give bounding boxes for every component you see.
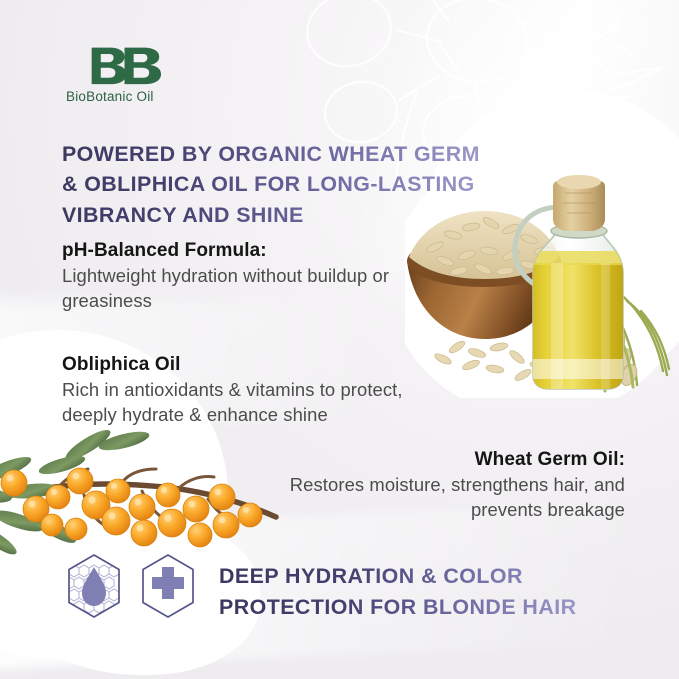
promo-graphic-canvas: BioBotanic Oil POWERED BY ORGANIC WHEAT …	[0, 0, 679, 679]
hydration-droplet-hexagon-icon	[64, 553, 124, 619]
brand-name: BioBotanic Oil	[66, 89, 216, 104]
feature-wheat-germ-oil: Wheat Germ Oil: Restores moisture, stren…	[225, 447, 625, 522]
feature-obliphica-oil: Obliphica Oil Rich in antioxidants & vit…	[62, 352, 462, 427]
brand-logo: BioBotanic Oil	[66, 44, 216, 104]
feature-obliphica-body: Rich in antioxidants & vitamins to prote…	[62, 378, 462, 427]
footline-line-1: DEEP HYDRATION & COLOR	[219, 561, 649, 592]
page-footline: DEEP HYDRATION & COLOR PROTECTION FOR BL…	[219, 561, 649, 623]
headline-line-3: VIBRANCY AND SHINE	[62, 200, 540, 230]
benefit-badges	[64, 553, 198, 619]
protection-plus-hexagon-icon	[138, 553, 198, 619]
feature-ph-balanced: pH-Balanced Formula: Lightweight hydrati…	[62, 238, 434, 313]
footline-line-2: PROTECTION FOR BLONDE HAIR	[219, 592, 649, 623]
feature-ph-body: Lightweight hydration without buildup or…	[62, 264, 434, 313]
headline-line-2: & OBLIPHICA OIL FOR LONG-LASTING	[62, 169, 540, 199]
headline-line-1: POWERED BY ORGANIC WHEAT GERM	[62, 139, 540, 169]
feature-obliphica-title: Obliphica Oil	[62, 352, 462, 377]
bb-monogram-icon	[88, 44, 172, 86]
feature-wheat-title: Wheat Germ Oil:	[225, 447, 625, 472]
page-headline: POWERED BY ORGANIC WHEAT GERM & OBLIPHIC…	[62, 139, 540, 230]
feature-ph-title: pH-Balanced Formula:	[62, 238, 434, 263]
feature-wheat-body: Restores moisture, strengthens hair, and…	[225, 473, 625, 522]
